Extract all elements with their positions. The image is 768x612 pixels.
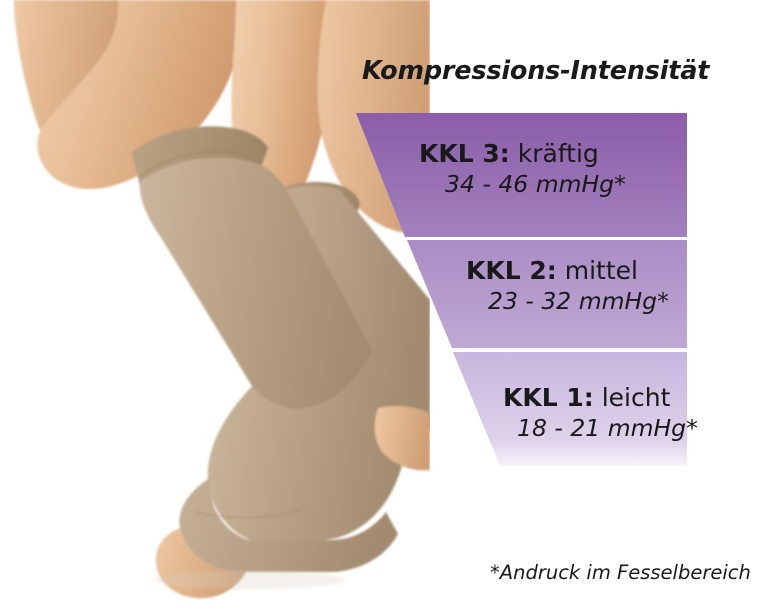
band-1-qualifier: leicht (602, 383, 671, 412)
page-title: Kompressions-Intensität (362, 56, 762, 86)
band-label-kkl-1: KKL 1: leicht 18 - 21 mmHg* (503, 385, 698, 441)
band-2-class-label: KKL 2: (466, 256, 557, 285)
band-3-pressure: 34 - 46 mmHg* (445, 173, 626, 197)
band-1-pressure: 18 - 21 mmHg* (517, 417, 698, 441)
band-2-pressure: 23 - 32 mmHg* (488, 290, 669, 314)
band-1-class-line: KKL 1: leicht (503, 385, 698, 410)
compression-intensity-infographic: Kompressions-Intensität (0, 0, 768, 612)
band-1-class-label: KKL 1: (503, 383, 594, 412)
footnote: *Andruck im Fesselbereich (490, 561, 751, 584)
band-label-kkl-3: KKL 3: kräftig 34 - 46 mmHg* (419, 141, 626, 197)
band-3-qualifier: kräftig (518, 139, 599, 168)
band-2-class-line: KKL 2: mittel (466, 258, 669, 283)
foot-shadow (154, 571, 346, 589)
band-3-class-label: KKL 3: (419, 139, 510, 168)
band-label-kkl-2: KKL 2: mittel 23 - 32 mmHg* (466, 258, 669, 314)
band-2-qualifier: mittel (565, 256, 638, 285)
band-3-class-line: KKL 3: kräftig (419, 141, 626, 166)
legs-compression-stockings-photo (0, 0, 430, 612)
